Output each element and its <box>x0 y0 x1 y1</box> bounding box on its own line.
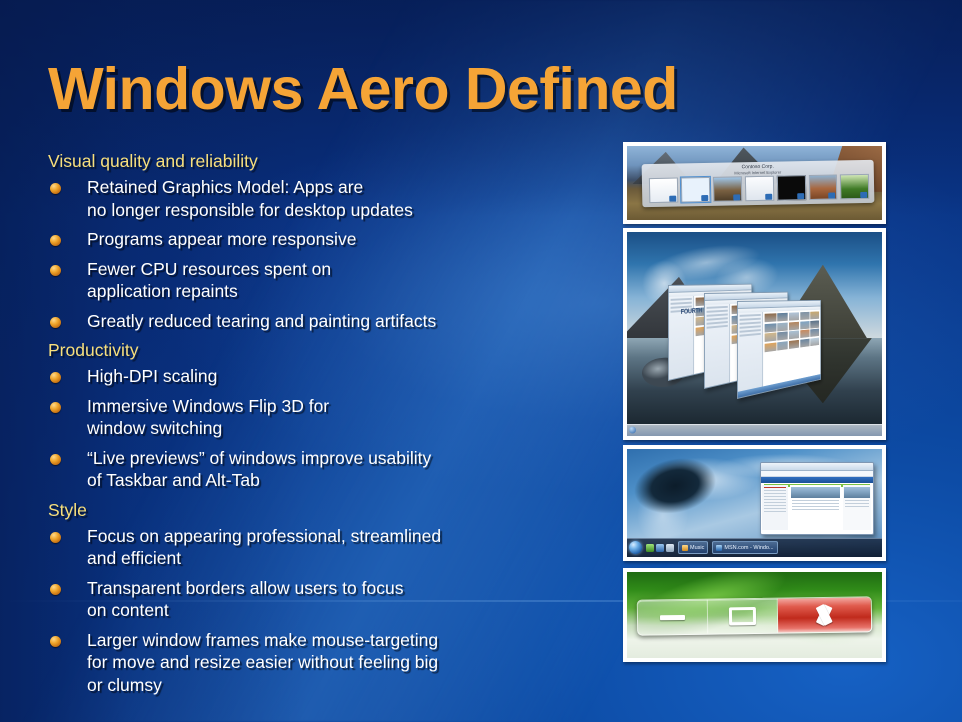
alt-tab-thumbnail <box>777 175 806 201</box>
photo-thumbnail <box>810 320 819 328</box>
bullet-sphere-icon <box>50 532 61 543</box>
photo-thumbnail <box>789 331 799 340</box>
photo-thumbnail <box>789 313 799 321</box>
list-item: “Live previews” of windows improve usabi… <box>48 447 588 492</box>
text-line <box>764 487 786 488</box>
taskbar-button-music[interactable]: Music <box>678 541 708 554</box>
bullet-text: Programs appear more responsive <box>87 229 356 249</box>
list-item: Focus on appearing professional, streaml… <box>48 525 588 570</box>
alt-tab-canvas: Contoso Corp. Microsoft Internet Explore… <box>627 146 882 220</box>
app-icon <box>733 195 740 201</box>
list-item: Retained Graphics Model: Apps are no lon… <box>48 176 588 221</box>
bullet-sphere-icon <box>50 454 61 465</box>
list-item: Greatly reduced tearing and painting art… <box>48 310 588 333</box>
text-line <box>845 500 869 501</box>
photo-thumbnail <box>810 312 819 320</box>
window-titlebar <box>761 463 873 471</box>
alt-tab-thumbnail <box>745 176 774 202</box>
windows-taskbar: Music MSN.com - Windo... <box>627 538 882 557</box>
page-title: Windows Aero Defined <box>48 58 908 122</box>
nav-line <box>739 314 761 317</box>
maximize-button[interactable] <box>708 598 778 633</box>
bullet-text: Larger window frames make mouse-targetin… <box>87 630 438 695</box>
bullet-sphere-icon <box>50 183 61 194</box>
taskbar-button-label: Music <box>690 545 704 551</box>
photo-thumbnail <box>789 340 799 349</box>
app-icon <box>669 196 676 202</box>
site-center-column <box>790 485 842 529</box>
figure-aero-caption-buttons <box>623 568 886 662</box>
app-icon <box>829 193 836 199</box>
quicklaunch-icon[interactable] <box>656 544 664 552</box>
text-line <box>764 493 786 494</box>
hero-image <box>791 487 840 498</box>
text-line <box>764 496 786 497</box>
bullet-sphere-icon <box>50 584 61 595</box>
maximize-icon <box>729 607 757 625</box>
app-icon <box>701 196 708 202</box>
quick-launch-tray <box>646 544 674 552</box>
photo-thumbnail <box>777 313 788 322</box>
text-line <box>764 499 786 500</box>
bullet-sphere-icon <box>50 372 61 383</box>
text-line <box>845 503 869 504</box>
list-item: Programs appear more responsive <box>48 228 588 251</box>
group-heading: Style <box>48 499 588 522</box>
text-line <box>792 509 840 510</box>
photo-thumbnail <box>800 339 809 348</box>
content-group-visual-quality: Visual quality and reliability Retained … <box>48 150 588 332</box>
photo-thumbnail <box>810 329 819 337</box>
alt-tab-panel: Contoso Corp. Microsoft Internet Explore… <box>642 160 875 207</box>
bullet-text: Immersive Windows Flip 3D for window swi… <box>87 396 329 439</box>
bullet-text: Greatly reduced tearing and painting art… <box>87 311 436 331</box>
bullet-text: Focus on appearing professional, streaml… <box>87 526 441 569</box>
alt-tab-thumbnail <box>809 174 838 200</box>
bullet-text: Fewer CPU resources spent on application… <box>87 259 331 302</box>
minimize-button[interactable] <box>638 599 708 634</box>
music-icon <box>682 545 688 551</box>
start-orb-icon[interactable] <box>629 541 642 554</box>
bullet-text: High-DPI scaling <box>87 366 217 386</box>
figure-flip-3d: FOURTH <box>623 228 886 440</box>
text-line <box>845 506 869 507</box>
start-orb-icon <box>629 427 636 434</box>
text-line <box>764 508 786 509</box>
alt-tab-thumbnail <box>713 176 742 202</box>
glass-buttons-canvas <box>627 572 882 658</box>
content-group-style: Style Focus on appearing professional, s… <box>48 499 588 697</box>
list-item: Transparent borders allow users to focus… <box>48 577 588 622</box>
alt-tab-thumbnail-list <box>649 174 870 204</box>
minimize-icon <box>660 614 685 620</box>
bullet-sphere-icon <box>50 265 61 276</box>
text-line <box>764 502 786 503</box>
site-columns <box>761 484 873 531</box>
close-button[interactable] <box>778 597 871 633</box>
bullet-text: Transparent borders allow users to focus… <box>87 578 403 621</box>
app-icon <box>765 194 772 200</box>
site-left-column <box>762 485 788 529</box>
photo-thumbnail <box>800 312 809 320</box>
bullet-text: Retained Graphics Model: Apps are no lon… <box>87 177 413 220</box>
text-line <box>792 500 840 501</box>
bullet-sphere-icon <box>50 235 61 246</box>
photo-thumbnail <box>800 330 809 339</box>
close-icon <box>805 605 844 625</box>
window-caption-button-group <box>637 596 872 636</box>
app-icon <box>861 193 868 199</box>
list-item: High-DPI scaling <box>48 365 588 388</box>
content-group-productivity: Productivity High-DPI scaling Immersive … <box>48 339 588 492</box>
text-line <box>764 490 786 491</box>
photo-thumbnail <box>765 343 776 353</box>
figure-alt-tab-preview: Contoso Corp. Microsoft Internet Explore… <box>623 142 886 224</box>
nav-line <box>670 298 692 301</box>
slide-root: Windows Aero Defined Visual quality and … <box>0 0 962 722</box>
text-line <box>792 506 840 507</box>
bullet-sphere-icon <box>50 402 61 413</box>
photo-thumbnail <box>777 323 788 332</box>
figure-taskbar-live-preview: Music MSN.com - Windo... <box>623 445 886 561</box>
photo-thumbnail <box>765 323 776 332</box>
nav-line <box>706 310 728 313</box>
photo-thumbnail <box>765 314 776 323</box>
taskbar-preview-canvas: Music MSN.com - Windo... <box>627 449 882 557</box>
app-icon <box>797 194 804 200</box>
alt-tab-thumbnail <box>649 178 678 204</box>
window-nav-pane <box>738 312 764 398</box>
alt-tab-thumbnail <box>841 174 870 200</box>
bullet-sphere-icon <box>50 317 61 328</box>
text-line <box>764 505 786 506</box>
alt-tab-thumbnail-selected <box>681 177 710 203</box>
photo-thumbnail <box>810 338 819 347</box>
bullet-text: “Live previews” of windows improve usabi… <box>87 448 431 491</box>
desktop-taskbar <box>627 424 882 436</box>
site-navigation-bar <box>761 477 873 483</box>
photo-thumbnail <box>800 321 809 329</box>
bullet-sphere-icon <box>50 636 61 647</box>
list-item: Fewer CPU resources spent on application… <box>48 258 588 303</box>
text-line <box>764 511 786 512</box>
nav-line <box>706 325 728 329</box>
photo-thumbnail <box>777 332 788 341</box>
side-image <box>844 487 869 498</box>
nav-line <box>739 333 761 337</box>
bullet-content-column: Visual quality and reliability Retained … <box>48 150 588 703</box>
taskbar-button-msn[interactable]: MSN.com - Windo... <box>712 541 777 554</box>
photo-thumbnail <box>777 341 788 350</box>
window-nav-pane <box>704 304 730 388</box>
nav-line <box>706 306 728 309</box>
group-heading: Visual quality and reliability <box>48 150 588 173</box>
browser-icon <box>716 545 722 551</box>
photo-thumbnail <box>789 322 799 331</box>
nav-line <box>670 302 692 305</box>
group-heading: Productivity <box>48 339 588 362</box>
site-right-column <box>843 485 871 529</box>
list-item: Larger window frames make mouse-targetin… <box>48 629 588 697</box>
quicklaunch-icon[interactable] <box>646 544 654 552</box>
taskbar-button-label: MSN.com - Windo... <box>724 545 773 551</box>
photo-thumbnail <box>765 333 776 342</box>
live-preview-thumbnail <box>760 462 874 535</box>
flip3d-canvas: FOURTH <box>627 232 882 436</box>
list-item: Immersive Windows Flip 3D for window swi… <box>48 395 588 440</box>
quicklaunch-icon[interactable] <box>666 544 674 552</box>
text-line <box>792 503 840 504</box>
